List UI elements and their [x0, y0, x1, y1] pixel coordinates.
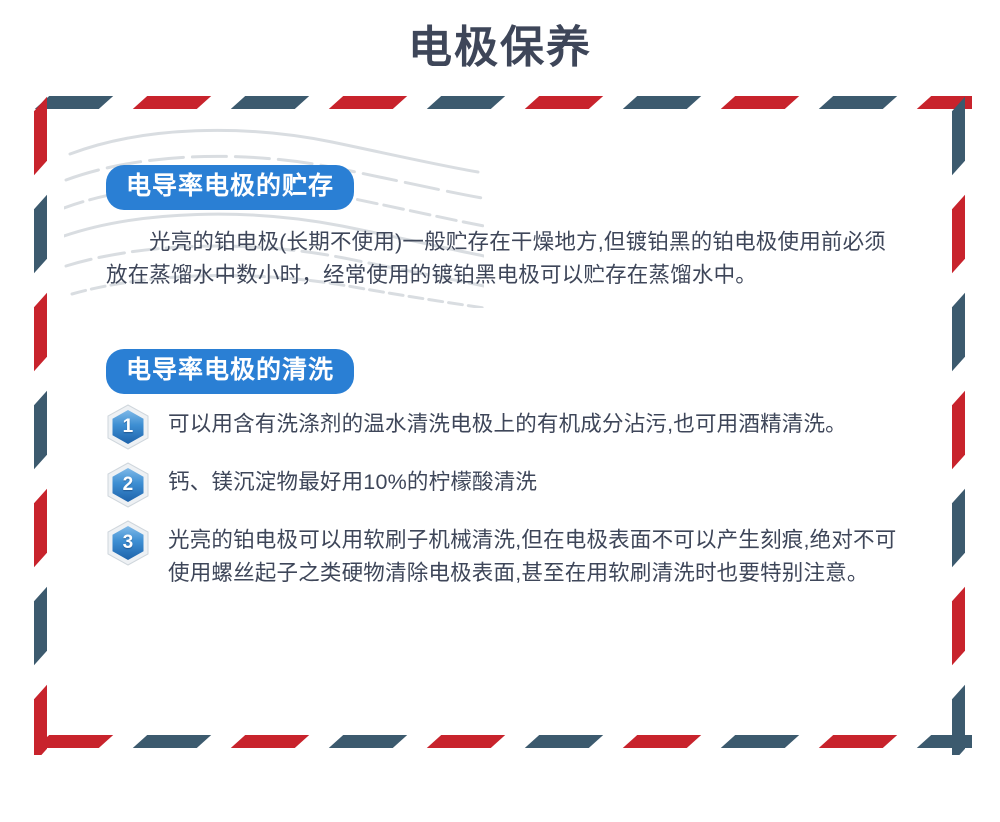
frame-edge-top	[28, 90, 972, 116]
frame-dash	[952, 489, 965, 567]
frame-dash	[721, 735, 799, 748]
frame-dash	[34, 685, 47, 755]
hexagon-number-icon	[106, 520, 150, 566]
list-item-text: 钙、镁沉淀物最好用10%的柠檬酸清洗	[168, 470, 537, 494]
frame-dash	[133, 96, 211, 109]
frame-dash	[427, 96, 505, 109]
frame-dash	[34, 293, 47, 371]
frame-dash	[819, 735, 897, 748]
section-badge-cleaning: 电导率电极的清洗	[106, 349, 354, 394]
frame-dash	[329, 735, 407, 748]
frame-dash	[133, 735, 211, 748]
frame-dash	[231, 96, 309, 109]
frame-dash	[952, 685, 965, 755]
frame-dash	[952, 195, 965, 273]
airmail-envelope-frame: 电导率电极的贮存 光亮的铂电极(长期不使用)一般贮存在干燥地方,但镀铂黑的铂电极…	[28, 90, 972, 755]
frame-dash	[34, 195, 47, 273]
frame-dash	[34, 489, 47, 567]
section-cleaning: 电导率电极的清洗 1	[106, 349, 906, 589]
list-item: 3 光亮的铂电极可以用软刷子机械清洗,但在电极表面不可以产生刻痕,绝对不可使用螺…	[106, 524, 906, 589]
frame-edge-left	[28, 90, 54, 755]
frame-dash	[952, 587, 965, 665]
frame-dash	[34, 391, 47, 469]
frame-dash	[231, 735, 309, 748]
frame-dash	[721, 96, 799, 109]
frame-dash	[427, 735, 505, 748]
frame-dash	[623, 96, 701, 109]
frame-dash	[34, 97, 47, 175]
list-item: 1 可以用含有洗涤剂的温水清洗电极上的有机成分沾污,也可用酒精清洗。	[106, 408, 906, 448]
frame-dash	[952, 391, 965, 469]
frame-edge-right	[946, 90, 972, 755]
list-item-text: 可以用含有洗涤剂的温水清洗电极上的有机成分沾污,也可用酒精清洗。	[168, 412, 847, 436]
frame-dash	[525, 96, 603, 109]
frame-dash	[952, 293, 965, 371]
list-item: 2 钙、镁沉淀物最好用10%的柠檬酸清洗	[106, 466, 906, 506]
frame-dash	[952, 97, 965, 175]
frame-edge-bottom	[28, 729, 972, 755]
frame-dash	[819, 96, 897, 109]
frame-dash	[34, 587, 47, 665]
hexagon-number-icon	[106, 404, 150, 450]
section-storage: 电导率电极的贮存 光亮的铂电极(长期不使用)一般贮存在干燥地方,但镀铂黑的铂电极…	[106, 165, 906, 291]
section-badge-storage: 电导率电极的贮存	[106, 165, 354, 210]
frame-dash	[623, 735, 701, 748]
frame-dash	[525, 735, 603, 748]
cleaning-steps-list: 1 可以用含有洗涤剂的温水清洗电极上的有机成分沾污,也可用酒精清洗。	[106, 408, 906, 589]
content-area: 电导率电极的贮存 光亮的铂电极(长期不使用)一般贮存在干燥地方,但镀铂黑的铂电极…	[106, 165, 906, 590]
list-item-text: 光亮的铂电极可以用软刷子机械清洗,但在电极表面不可以产生刻痕,绝对不可使用螺丝起…	[168, 528, 896, 585]
frame-dash	[329, 96, 407, 109]
hexagon-number-icon	[106, 462, 150, 508]
page-title: 电极保养	[0, 20, 1000, 75]
storage-paragraph: 光亮的铂电极(长期不使用)一般贮存在干燥地方,但镀铂黑的铂电极使用前必须放在蒸馏…	[106, 226, 906, 291]
